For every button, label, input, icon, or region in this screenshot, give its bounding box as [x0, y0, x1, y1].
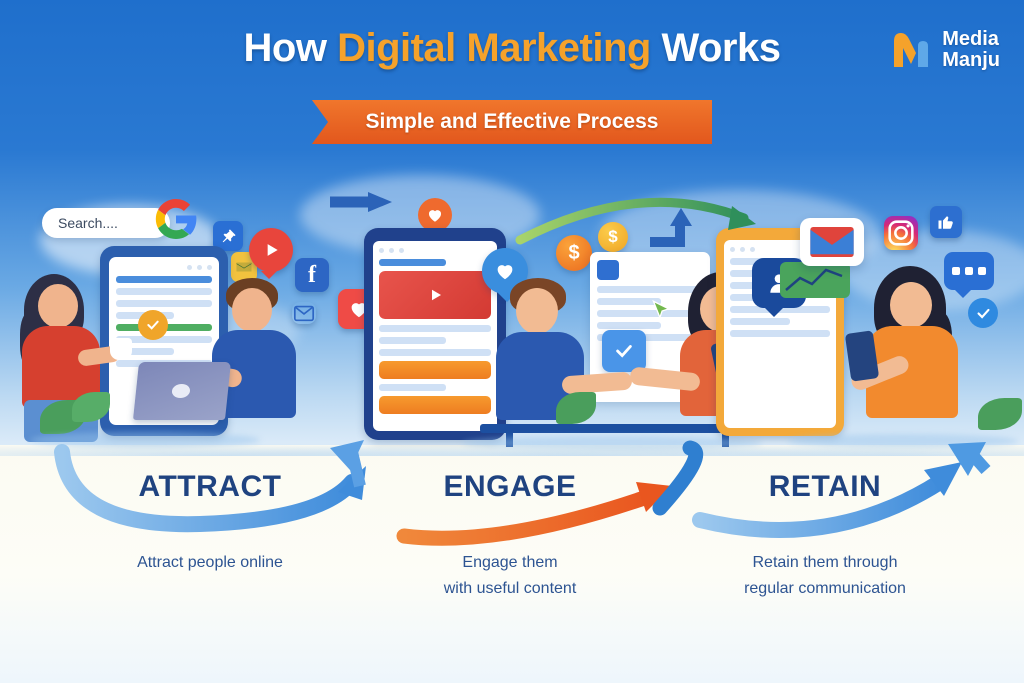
chat-bubble-icon — [944, 252, 994, 290]
content-line — [597, 286, 703, 293]
subtitle-ribbon: Simple and Effective Process — [312, 100, 712, 144]
content-line — [116, 300, 212, 307]
logo-wordmark: Media Manju — [942, 29, 1000, 71]
google-icon — [152, 195, 200, 243]
video-player-graphic — [379, 271, 491, 319]
logo-line-1: Media — [942, 29, 1000, 50]
step-label-attract: ATTRACT — [45, 470, 375, 504]
title-part-1: How — [244, 26, 338, 70]
content-line — [379, 349, 491, 356]
facebook-icon: f — [295, 258, 329, 292]
checkmark-icon — [602, 330, 646, 372]
face — [232, 288, 272, 332]
face — [890, 282, 932, 328]
content-line — [730, 330, 830, 337]
search-bar-graphic: Search.... — [42, 208, 170, 238]
face — [38, 284, 78, 328]
window-dots — [379, 248, 491, 253]
step-caption-retain: Retain them through regular communicatio… — [660, 550, 990, 603]
ground-shadow — [788, 434, 1018, 448]
content-line — [730, 318, 790, 325]
infographic-canvas: How Digital Marketing Works Simple and E… — [0, 0, 1024, 683]
heart-icon — [418, 198, 452, 232]
panel-thumb — [597, 260, 619, 280]
chart-graphic — [780, 262, 850, 298]
step-caption-engage: Engage them with useful content — [360, 550, 660, 603]
content-line — [379, 337, 446, 344]
cta-button-graphic — [379, 361, 491, 379]
window-dots — [116, 265, 212, 270]
logo-m-icon — [889, 28, 933, 72]
mail-outline-icon — [292, 302, 316, 324]
dollar-symbol: $ — [608, 227, 617, 247]
laptop-graphic — [133, 362, 231, 420]
search-bar-text: Search.... — [58, 215, 118, 231]
facebook-letter: f — [308, 262, 316, 289]
brand-logo[interactable]: Media Manju — [889, 28, 1000, 72]
content-line — [379, 325, 491, 332]
title-part-2: Works — [651, 26, 781, 70]
title-accent: Digital Marketing — [337, 26, 651, 70]
checkmark-icon — [138, 310, 168, 340]
chat-dot — [978, 267, 986, 275]
plant-leaf — [556, 392, 596, 424]
instagram-icon — [884, 216, 918, 250]
logo-line-2: Manju — [942, 50, 1000, 71]
subtitle-text: Simple and Effective Process — [366, 110, 659, 134]
thumbs-up-icon — [930, 206, 962, 238]
step-label-engage: ENGAGE — [360, 470, 660, 504]
cta-button-graphic — [379, 396, 491, 414]
dollar-coin-icon: $ — [556, 235, 592, 271]
ground-shadow — [30, 432, 260, 448]
face — [516, 288, 558, 334]
content-line — [116, 276, 212, 283]
content-line — [379, 384, 446, 391]
device-screen — [373, 241, 497, 431]
content-line — [379, 259, 446, 266]
ground-shadow — [462, 436, 762, 450]
cursor-icon — [648, 298, 674, 329]
desk-graphic — [480, 424, 748, 433]
dollar-coin-icon: $ — [598, 222, 628, 252]
plant-leaf — [978, 398, 1022, 430]
cup-icon — [110, 338, 132, 360]
chat-dot — [965, 267, 973, 275]
content-line — [116, 288, 212, 295]
step-label-retain: RETAIN — [660, 470, 990, 504]
checkmark-icon — [968, 298, 998, 328]
dollar-symbol: $ — [568, 242, 579, 265]
youtube-play-icon — [249, 228, 293, 272]
step-caption-attract: Attract people online — [45, 550, 375, 576]
chat-dot — [952, 267, 960, 275]
page-title: How Digital Marketing Works — [0, 26, 1024, 71]
envelope-icon — [800, 218, 864, 266]
